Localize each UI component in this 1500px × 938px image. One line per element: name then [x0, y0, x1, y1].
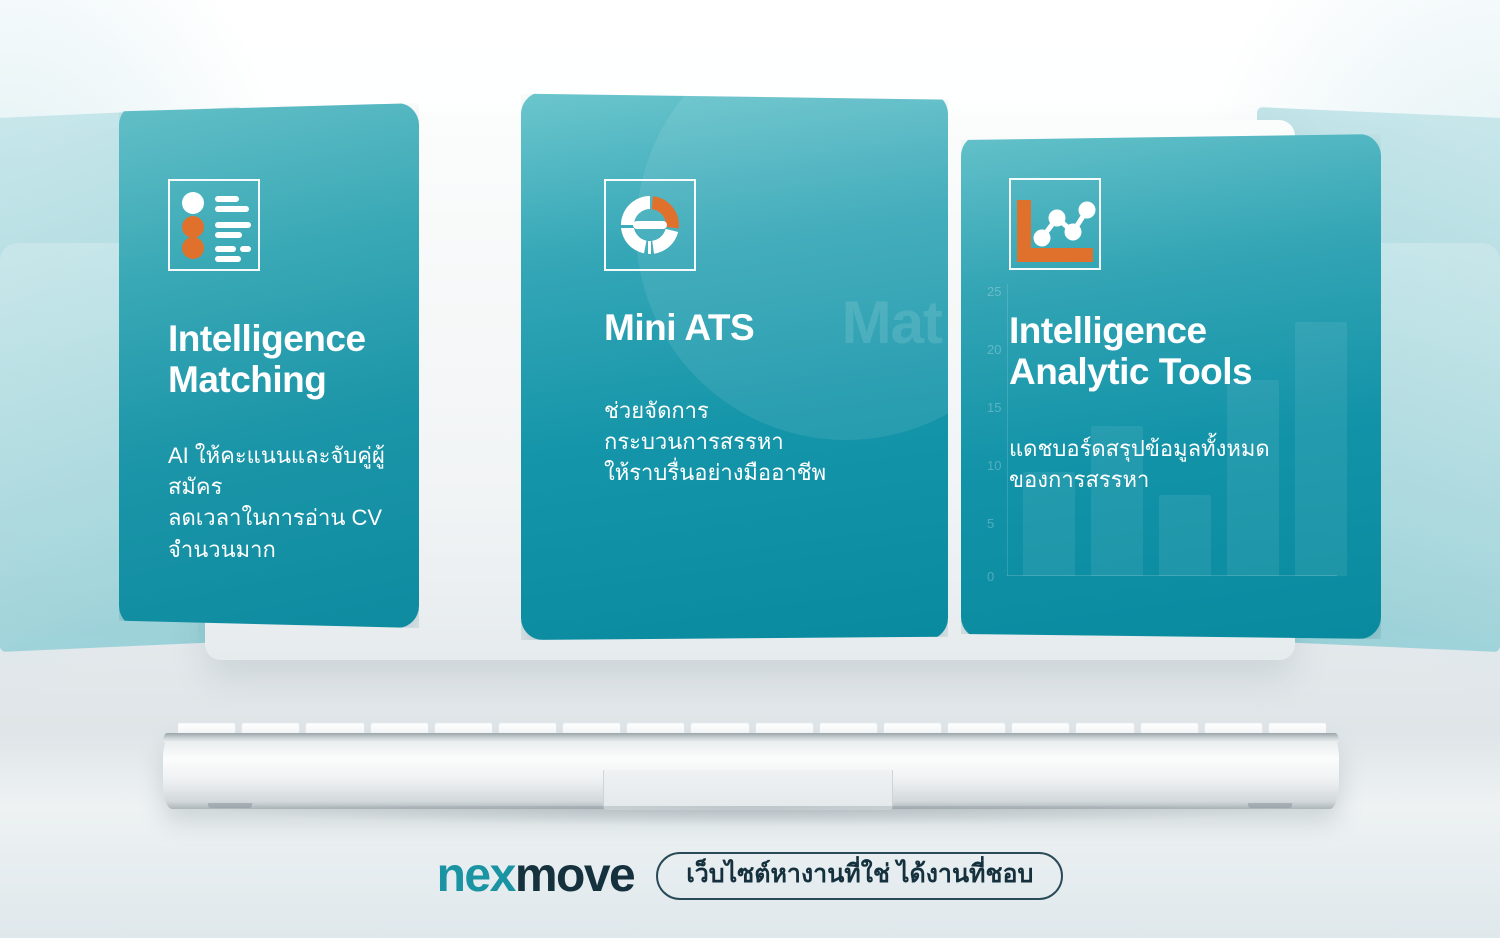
card-title: Intelligence Matching — [168, 319, 418, 400]
donut-chart-icon — [604, 179, 696, 271]
card-title: Mini ATS — [604, 308, 934, 349]
marketing-banner: Intelligence Matching AI ให้คะแนนและจับค… — [0, 0, 1500, 938]
tagline-pill: เว็บไซต์หางานที่ใช่ ได้งานที่ชอบ — [656, 852, 1063, 900]
card-title: Intelligence Analytic Tools — [1009, 311, 1381, 392]
laptop-shadow — [200, 806, 1302, 826]
chart-y-axis — [1007, 284, 1008, 576]
logo-nex: nex — [437, 849, 515, 902]
feature-card-intelligence-analytic-tools[interactable]: 25 20 15 10 5 0 — [961, 134, 1381, 639]
candidate-profile-match-icon — [168, 179, 260, 271]
chart-ytick: 0 — [987, 569, 994, 584]
feature-card-mini-ats[interactable]: Mat Mini ATS — [521, 92, 948, 640]
card-description: ช่วยจัดการ กระบวนการสรรหา ให้ราบรื่นอย่า… — [604, 395, 934, 489]
feature-card-intelligence-matching[interactable]: Intelligence Matching AI ให้คะแนนและจับค… — [119, 103, 419, 628]
footer: nexmove เว็บไซต์หางานที่ใช่ ได้งานที่ชอบ — [0, 840, 1500, 912]
card-description: AI ให้คะแนนและจับคู่ผู้สมัคร ลดเวลาในการ… — [168, 440, 419, 565]
chart-ytick: 5 — [987, 516, 994, 531]
laptop-trackpad — [603, 770, 893, 810]
logo-move: move — [515, 849, 634, 902]
chart-bar — [1159, 495, 1211, 576]
card-description: แดชบอร์ดสรุปข้อมูลทั้งหมด ของการสรรหา — [1009, 433, 1379, 495]
line-chart-icon — [1009, 178, 1101, 270]
chart-x-axis — [1007, 575, 1337, 576]
chart-ytick: 20 — [987, 342, 1001, 357]
chart-ytick: 25 — [987, 284, 1001, 299]
chart-ytick: 15 — [987, 400, 1001, 415]
nexmove-logo[interactable]: nexmove — [437, 852, 635, 900]
chart-ytick: 10 — [987, 458, 1001, 473]
laptop-hinge-lip — [163, 733, 1339, 742]
